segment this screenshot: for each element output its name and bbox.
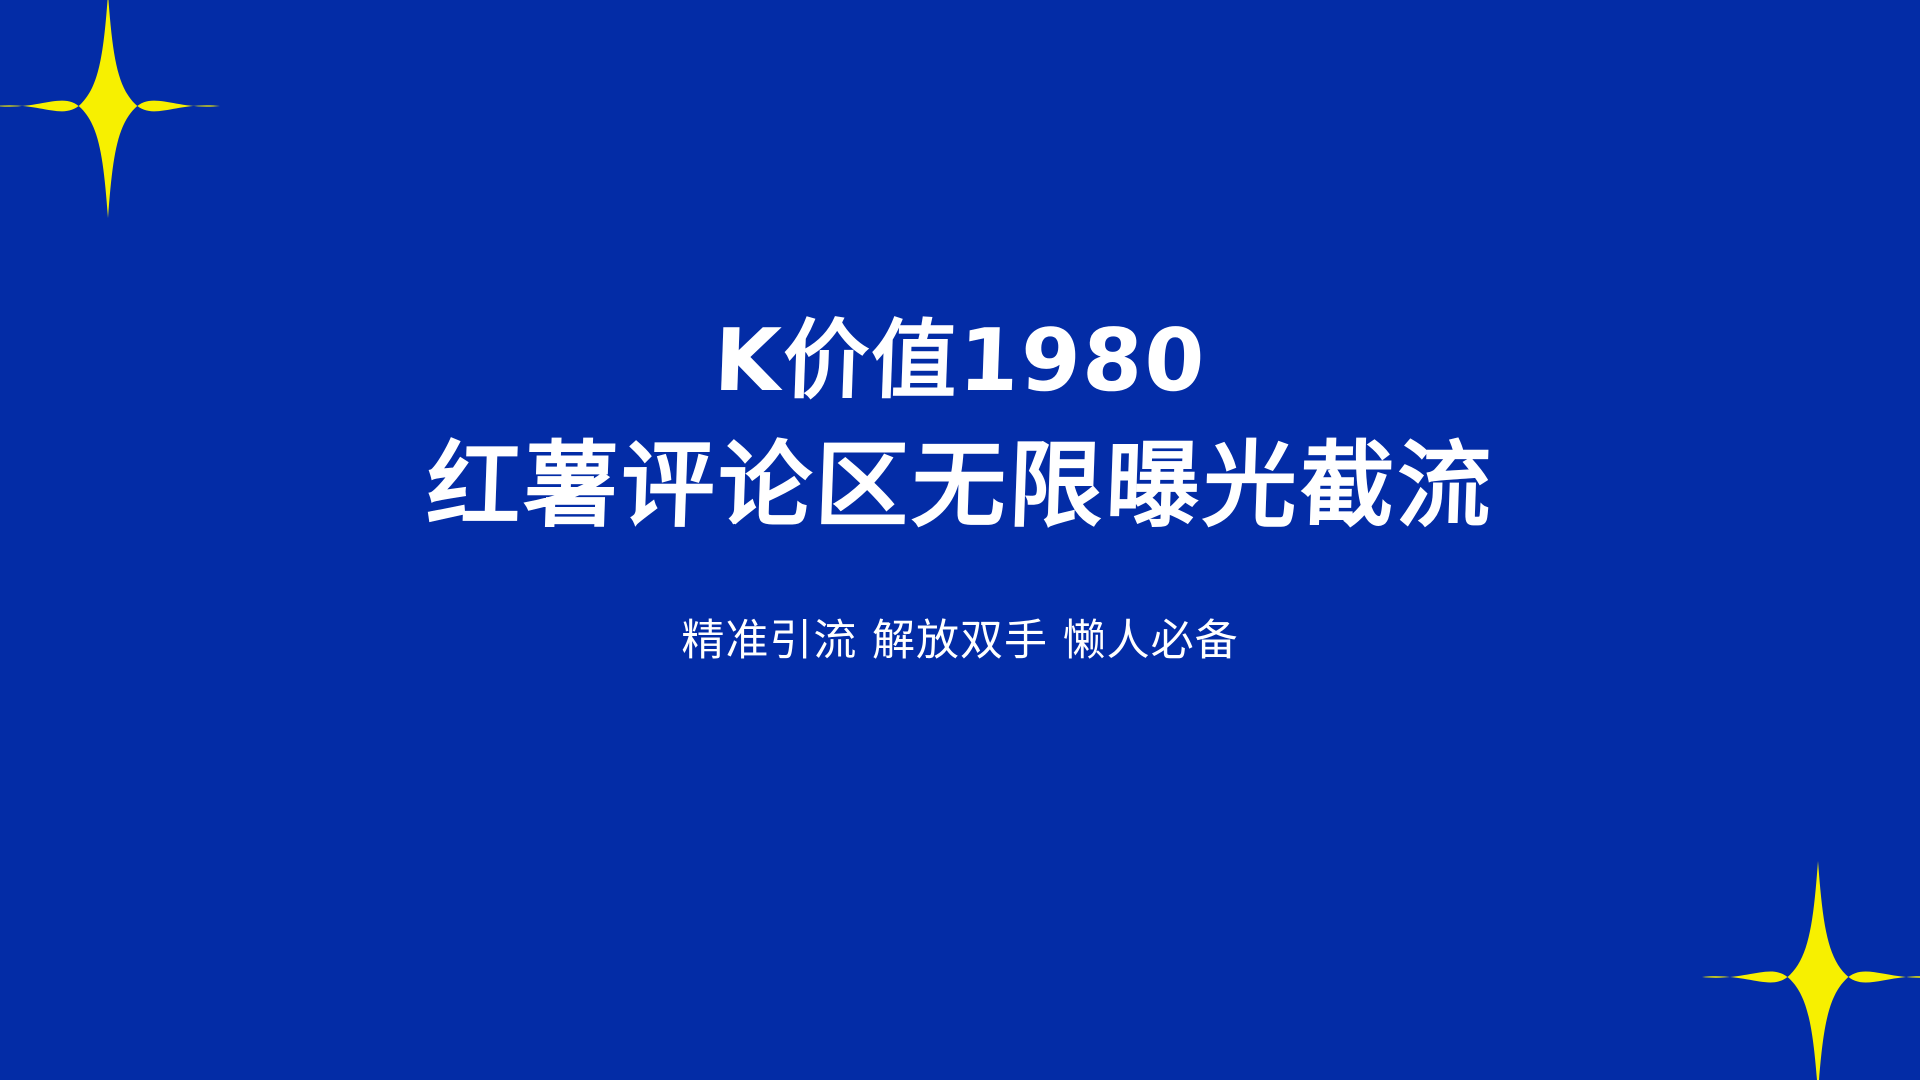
slide-title: K价值1980 红薯评论区无限曝光截流 bbox=[0, 318, 1920, 552]
slide-text-block: K价值1980 红薯评论区无限曝光截流 精准引流 解放双手 懒人必备 bbox=[0, 0, 1920, 1080]
title-line-primary: K价值1980 bbox=[0, 318, 1920, 418]
slide-subtitle: 精准引流 解放双手 懒人必备 bbox=[0, 618, 1920, 665]
promo-slide: K价值1980 红薯评论区无限曝光截流 精准引流 解放双手 懒人必备 bbox=[0, 0, 1920, 1080]
title-line-secondary: 红薯评论区无限曝光截流 bbox=[0, 440, 1920, 552]
